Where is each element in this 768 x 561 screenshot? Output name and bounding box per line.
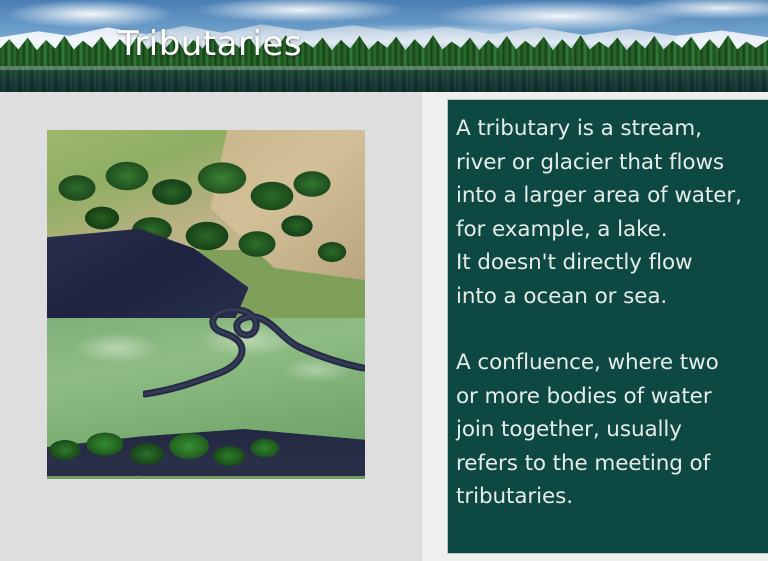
header-banner-image — [0, 0, 768, 92]
slide-canvas: Tributaries A tributary is a stream, riv… — [0, 0, 768, 561]
photo-lower-treeline-layer — [47, 418, 297, 479]
confluence-paragraph: A confluence, where two or more bodies o… — [456, 346, 758, 514]
banner-lake-layer — [0, 66, 768, 92]
page-title: Tributaries — [118, 24, 302, 64]
content-gutter — [422, 92, 448, 561]
photo-meandering-stream-layer — [143, 278, 365, 408]
photo-lower-field-layer — [47, 476, 365, 479]
definition-paragraph: A tributary is a stream, river or glacie… — [456, 112, 758, 313]
tributary-aerial-photo — [47, 130, 365, 479]
description-panel: A tributary is a stream, river or glacie… — [447, 99, 768, 554]
